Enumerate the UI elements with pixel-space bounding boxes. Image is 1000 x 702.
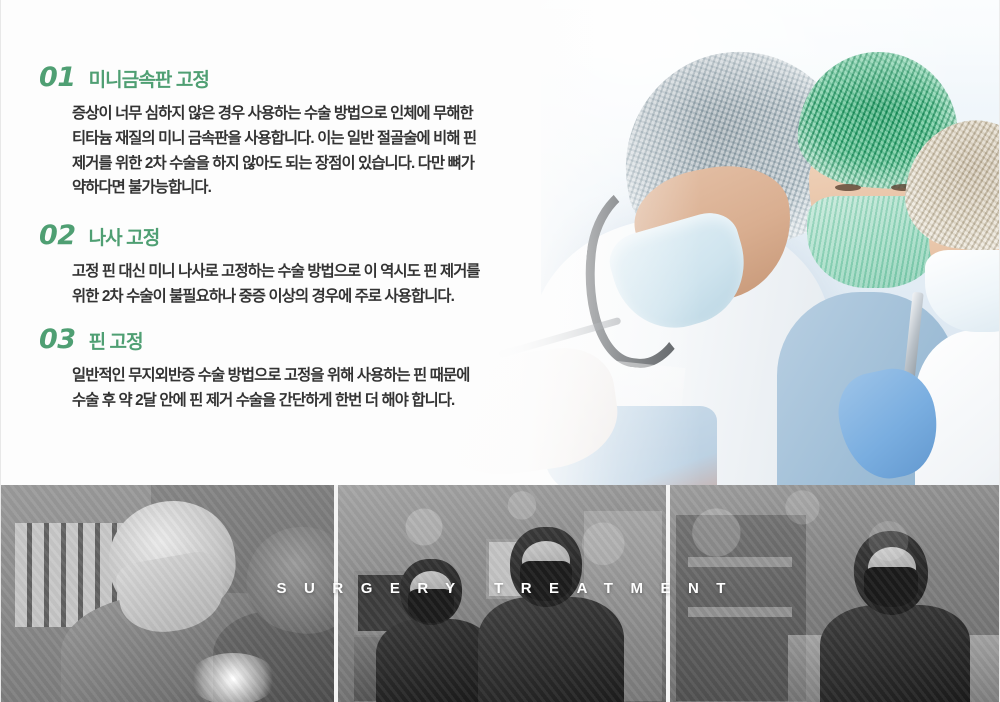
page-root: 01 미니금속판 고정 증상이 너무 심하지 않은 경우 사용하는 수술 방법으… xyxy=(0,0,1000,702)
treatment-item-2-title: 나사 고정 xyxy=(89,229,160,248)
treatment-item-2: 02 나사 고정 고정 핀 대신 미니 나사로 고정하는 수술 방법으로 이 역… xyxy=(39,222,480,310)
treatment-item-1-body: 증상이 너무 심하지 않은 경우 사용하는 수술 방법으로 인체에 무해한 티타… xyxy=(72,102,476,201)
top-section: 01 미니금속판 고정 증상이 너무 심하지 않은 경우 사용하는 수술 방법으… xyxy=(1,0,1000,486)
treatment-item-1-number: 01 xyxy=(39,64,76,91)
treatment-item-2-body: 고정 핀 대신 미니 나사로 고정하는 수술 방법으로 이 역시도 핀 제거를 … xyxy=(72,260,480,310)
bottom-photo-strip: SURGERY TREATMENT xyxy=(1,485,1000,702)
treatment-item-2-number: 02 xyxy=(39,222,76,249)
treatment-item-3-body: 일반적인 무지외반증 수술 방법으로 고정을 위해 사용하는 핀 때문에 수술 … xyxy=(72,364,469,414)
treatment-item-1-header: 01 미니금속판 고정 xyxy=(39,64,476,91)
treatment-item-3-header: 03 핀 고정 xyxy=(39,326,469,353)
treatment-item-3-number: 03 xyxy=(39,326,76,353)
strip-panel-3 xyxy=(670,485,1000,702)
treatment-item-1: 01 미니금속판 고정 증상이 너무 심하지 않은 경우 사용하는 수술 방법으… xyxy=(39,64,476,201)
panel-1-stripe-overlay xyxy=(1,485,334,702)
treatment-item-2-header: 02 나사 고정 xyxy=(39,222,480,249)
panel-2-stripe-overlay xyxy=(338,485,666,702)
treatment-item-3: 03 핀 고정 일반적인 무지외반증 수술 방법으로 고정을 위해 사용하는 핀… xyxy=(39,326,469,414)
treatment-item-1-title: 미니금속판 고정 xyxy=(89,71,209,90)
nurse-left-eye-shape xyxy=(835,184,861,191)
treatment-item-3-title: 핀 고정 xyxy=(89,333,143,352)
panel-3-stripe-overlay xyxy=(670,485,1000,702)
strip-panel-2 xyxy=(338,485,666,702)
strip-panel-1 xyxy=(1,485,334,702)
